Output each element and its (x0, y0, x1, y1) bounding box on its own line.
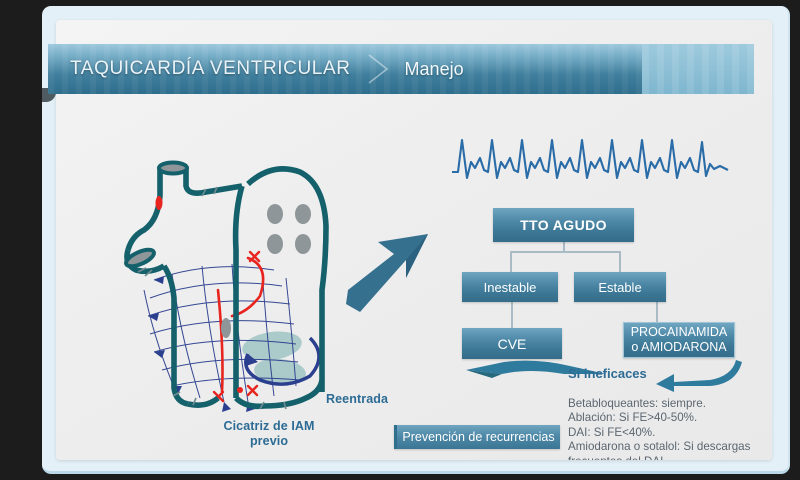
flow-node-estable[interactable]: Estable (574, 272, 666, 302)
label-cicatriz-line2: previo (204, 434, 334, 449)
bullet-line: Ablación: Si FE>40-50%. (568, 411, 764, 425)
label-cicatriz-iam: Cicatriz de IAM previo (204, 419, 334, 449)
heart-reentry-illustration (114, 140, 364, 415)
diagonal-arrow-icon (344, 230, 434, 312)
connector-inestable-cve (511, 302, 513, 328)
chevron-right-icon (365, 52, 391, 86)
flow-node-tto-agudo[interactable]: TTO AGUDO (493, 208, 634, 242)
flow-node-cve[interactable]: CVE (462, 328, 562, 359)
flow-node-label: Inestable (484, 280, 537, 295)
screenshot-frame: TTO AGUDO Inestable Estable CVE PROCAINA… (0, 0, 800, 480)
title-ribbon-container: TAQUICARDÍA VENTRICULAR Manejo (0, 44, 800, 102)
bullet-line: Amiodarona o sotalol: Si descargas (568, 440, 764, 454)
flow-node-inestable[interactable]: Inestable (462, 272, 558, 302)
page-title: TAQUICARDÍA VENTRICULAR (70, 58, 351, 80)
connector-horizontal (510, 251, 620, 253)
flow-node-label: CVE (498, 336, 527, 352)
prevention-bullets: Betabloqueantes: siempre. Ablación: Si F… (568, 397, 764, 460)
connector-to-inestable (510, 251, 512, 272)
flow-node-label: Prevención de recurrencias (402, 430, 554, 444)
flow-node-label: Estable (598, 280, 641, 295)
bullet-line: DAI: Si FE<40%. (568, 426, 764, 440)
label-reentrada: Reentrada (326, 392, 388, 407)
flow-node-antiarrhythmics[interactable]: PROCAINAMIDA o AMIODARONA (623, 322, 735, 358)
feedback-arrow-label: Si ineficaces (568, 366, 647, 381)
flow-node-label-line2: o AMIODARONA (631, 340, 726, 355)
connector-estable-drugs (656, 302, 658, 322)
connector-to-estable (619, 251, 621, 272)
label-cicatriz-line1: Cicatriz de IAM (204, 419, 334, 434)
flow-node-label-line1: PROCAINAMIDA (631, 325, 728, 340)
bullet-line: Betabloqueantes: siempre. (568, 397, 764, 411)
flow-node-label: TTO AGUDO (520, 217, 607, 233)
flow-node-prevencion-recurrencias[interactable]: Prevención de recurrencias (394, 425, 560, 449)
ecg-waveform (450, 128, 730, 190)
bullet-line: frecuentes del DAI. (568, 455, 764, 460)
title-ribbon: TAQUICARDÍA VENTRICULAR Manejo (48, 44, 754, 94)
page-subtitle: Manejo (405, 59, 464, 80)
